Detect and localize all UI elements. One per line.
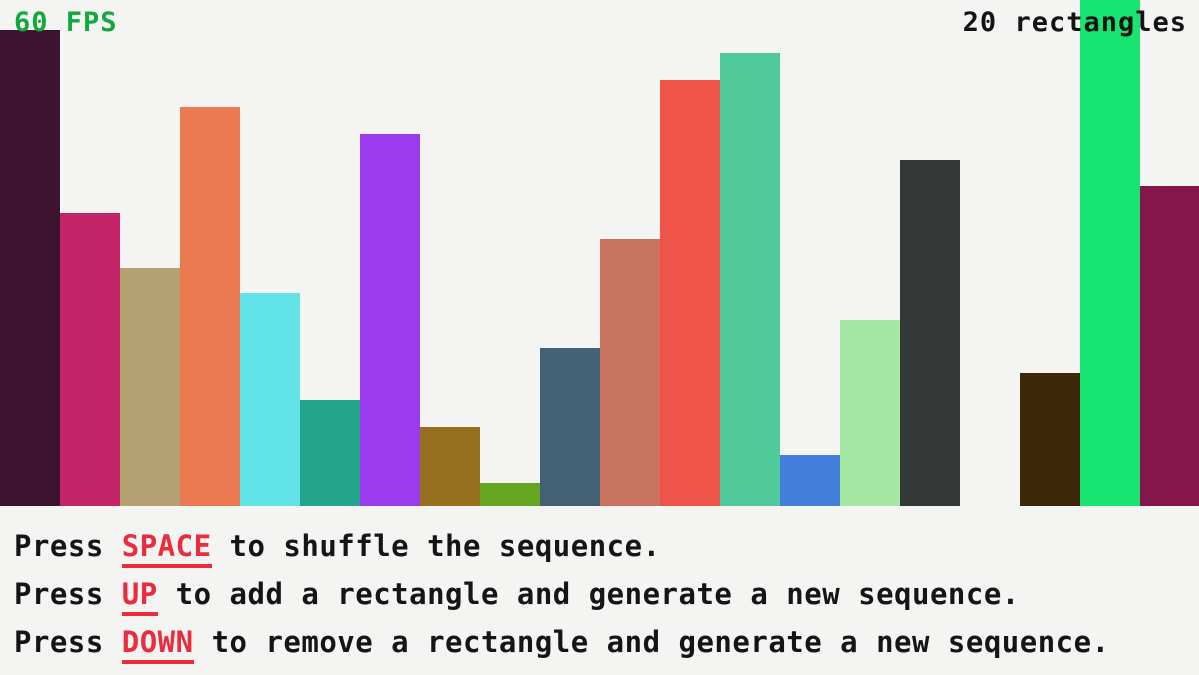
instruction-line: Press UP to add a rectangle and generate… — [14, 570, 1199, 618]
chart-bar — [420, 427, 480, 506]
instruction-suffix: to add a rectangle and generate a new se… — [158, 577, 1020, 611]
rectangle-sequence-app: 60 FPS 20 rectangles Press SPACE to shuf… — [0, 0, 1199, 675]
chart-bar — [180, 107, 240, 506]
chart-bar — [1140, 186, 1199, 506]
instruction-suffix: to shuffle the sequence. — [212, 529, 661, 563]
chart-bar — [1080, 0, 1140, 506]
instruction-suffix: to remove a rectangle and generate a new… — [194, 625, 1110, 659]
key-hint-space[interactable]: SPACE — [122, 529, 212, 568]
key-hint-down[interactable]: DOWN — [122, 625, 194, 664]
chart-bar — [840, 320, 900, 506]
rectangle-count-label: 20 rectangles — [963, 8, 1187, 38]
chart-bar — [660, 80, 720, 506]
fps-counter: 60 FPS — [14, 8, 118, 38]
chart-bar — [900, 160, 960, 506]
chart-bar — [540, 348, 600, 506]
instruction-line: Press SPACE to shuffle the sequence. — [14, 522, 1199, 570]
key-hint-up[interactable]: UP — [122, 577, 158, 616]
instruction-line: Press DOWN to remove a rectangle and gen… — [14, 618, 1199, 666]
chart-bar — [600, 239, 660, 506]
instructions-panel: Press SPACE to shuffle the sequence.Pres… — [0, 506, 1199, 675]
chart-bar — [240, 293, 300, 506]
instruction-prefix: Press — [14, 529, 122, 563]
chart-bar — [720, 53, 780, 506]
chart-bar — [300, 400, 360, 506]
chart-bar — [1020, 373, 1080, 506]
instruction-prefix: Press — [14, 625, 122, 659]
chart-bar — [120, 268, 180, 506]
chart-bar — [0, 30, 60, 506]
chart-bar — [360, 134, 420, 506]
chart-bar — [60, 213, 120, 506]
chart-bar — [480, 483, 540, 506]
chart-bar — [780, 455, 840, 506]
instruction-prefix: Press — [14, 577, 122, 611]
bar-chart-canvas[interactable] — [0, 0, 1199, 506]
